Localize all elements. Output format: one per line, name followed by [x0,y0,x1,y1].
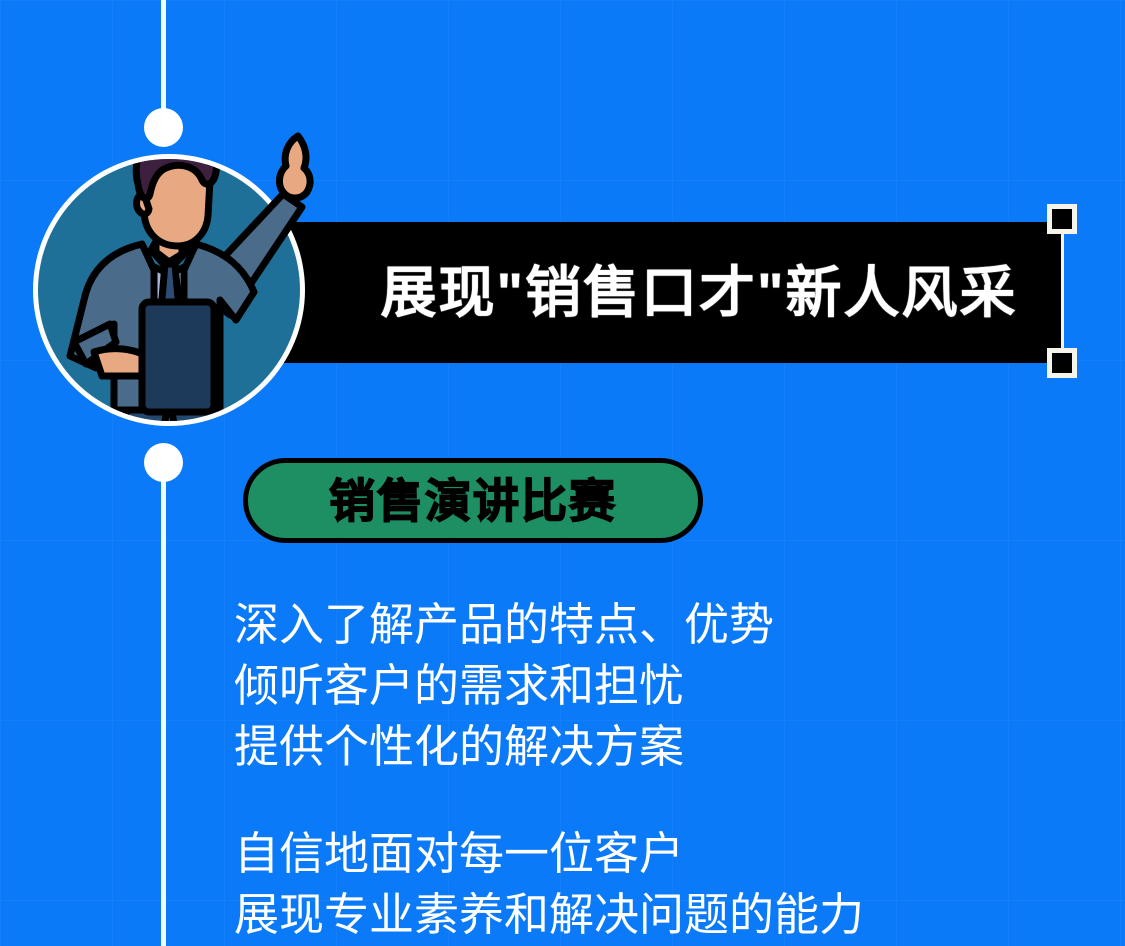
selection-handle-top-right[interactable] [1047,204,1077,234]
copy-line: 深入了解产品的特点、优势 [234,594,1064,655]
copy-line: 提供个性化的解决方案 [234,716,1064,777]
page-title: 展现"销售口才"新人风采 [380,265,1017,321]
paragraph-spacer [234,777,1064,823]
illustration-businessman-pointing [30,110,320,435]
poster-canvas: 展现"销售口才"新人风采 [0,0,1125,946]
copy-line: 自信地面对每一位客户 [234,823,1064,884]
selection-edge-line [1061,228,1064,362]
section-badge-label: 销售演讲比赛 [329,478,617,524]
section-badge[interactable]: 销售演讲比赛 [243,458,703,543]
timeline-dot-bottom [144,443,183,482]
copy-line: 倾听客户的需求和担忧 [234,655,1064,716]
businessman-pointing-up-icon [30,110,320,435]
selection-handle-bottom-right[interactable] [1047,348,1077,378]
copy-line: 展现专业素养和解决问题的能力 [234,884,1064,945]
timeline-line-bottom [161,455,166,946]
body-copy-block: 深入了解产品的特点、优势 倾听客户的需求和担忧 提供个性化的解决方案 自信地面对… [234,594,1064,945]
